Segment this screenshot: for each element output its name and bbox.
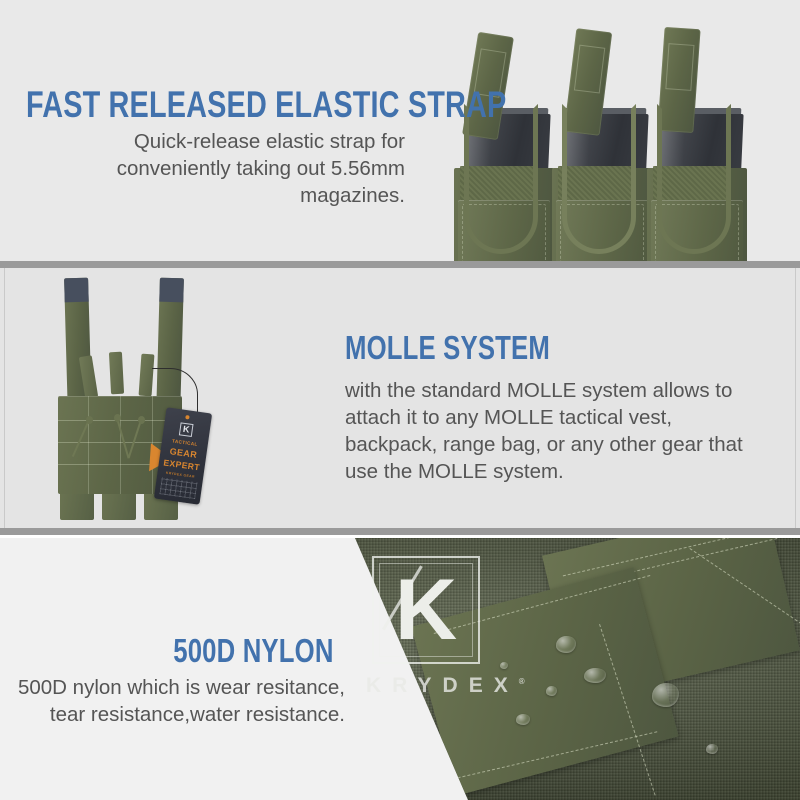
water-droplet	[556, 636, 576, 653]
section-body-fast-released-elastic-strap: Quick-release elastic strap for convenie…	[40, 128, 405, 209]
water-droplet	[652, 683, 679, 707]
cord-knot	[86, 416, 93, 424]
krydex-k-letter: K	[395, 567, 457, 653]
hang-tag-string	[152, 368, 198, 412]
panel-edge-line	[795, 268, 796, 528]
product-photo-chest-rig: K TACTICAL GEAR EXPERT KRYDEX GEAR	[32, 272, 262, 528]
elastic-bungee-loop	[657, 104, 731, 254]
molle-webbing-column	[120, 396, 121, 494]
section-body-molle-system: with the standard MOLLE system allows to…	[345, 377, 745, 485]
registered-trademark-symbol: ®	[519, 677, 525, 686]
strap-tip	[64, 278, 89, 303]
molle-webbing-column	[88, 396, 89, 494]
water-droplet	[706, 744, 718, 754]
krydex-wordmark: KRYDEX®	[366, 674, 525, 698]
krydex-k-icon: K	[179, 422, 194, 437]
pouch-bottom-tab	[102, 494, 136, 520]
water-droplet	[500, 662, 508, 669]
section-fast-released-elastic-strap: FAST RELEASED ELASTIC STRAP Quick-releas…	[0, 0, 800, 262]
krydex-watermark: K KRYDEX®	[372, 556, 480, 664]
water-droplet	[516, 714, 530, 725]
water-droplet	[546, 686, 557, 696]
section-heading-500d-nylon: 500D NYLON	[174, 634, 334, 667]
elastic-bungee-loop	[562, 104, 636, 254]
mag-pouch-unit	[645, 18, 749, 262]
section-body-500d-nylon: 500D nylon which is wear resitance, tear…	[10, 674, 345, 728]
section-heading-fast-released-elastic-strap: FAST RELEASED ELASTIC STRAP	[26, 86, 506, 123]
cord-knot	[138, 416, 145, 424]
section-divider	[0, 528, 800, 535]
tag-grid-pattern	[159, 477, 197, 499]
cord-knot	[114, 414, 121, 422]
tag-eyelet	[185, 415, 190, 420]
mag-pouch-unit	[452, 18, 556, 262]
krydex-logo-icon: K	[372, 556, 480, 664]
water-droplet	[584, 668, 606, 683]
section-heading-molle-system: MOLLE SYSTEM	[345, 331, 550, 364]
infographic-page: FAST RELEASED ELASTIC STRAP Quick-releas…	[0, 0, 800, 800]
section-divider	[0, 261, 800, 268]
krydex-wordmark-text: KRYDEX	[366, 674, 519, 697]
mag-pouch-unit	[550, 18, 654, 262]
flap-strap	[109, 352, 124, 395]
product-photo-mag-pouch-top	[440, 0, 800, 262]
panel-edge-line	[4, 268, 5, 528]
pouch-bottom-tab	[60, 494, 94, 520]
strap-tip	[159, 278, 184, 303]
elastic-bungee-loop	[464, 104, 538, 254]
